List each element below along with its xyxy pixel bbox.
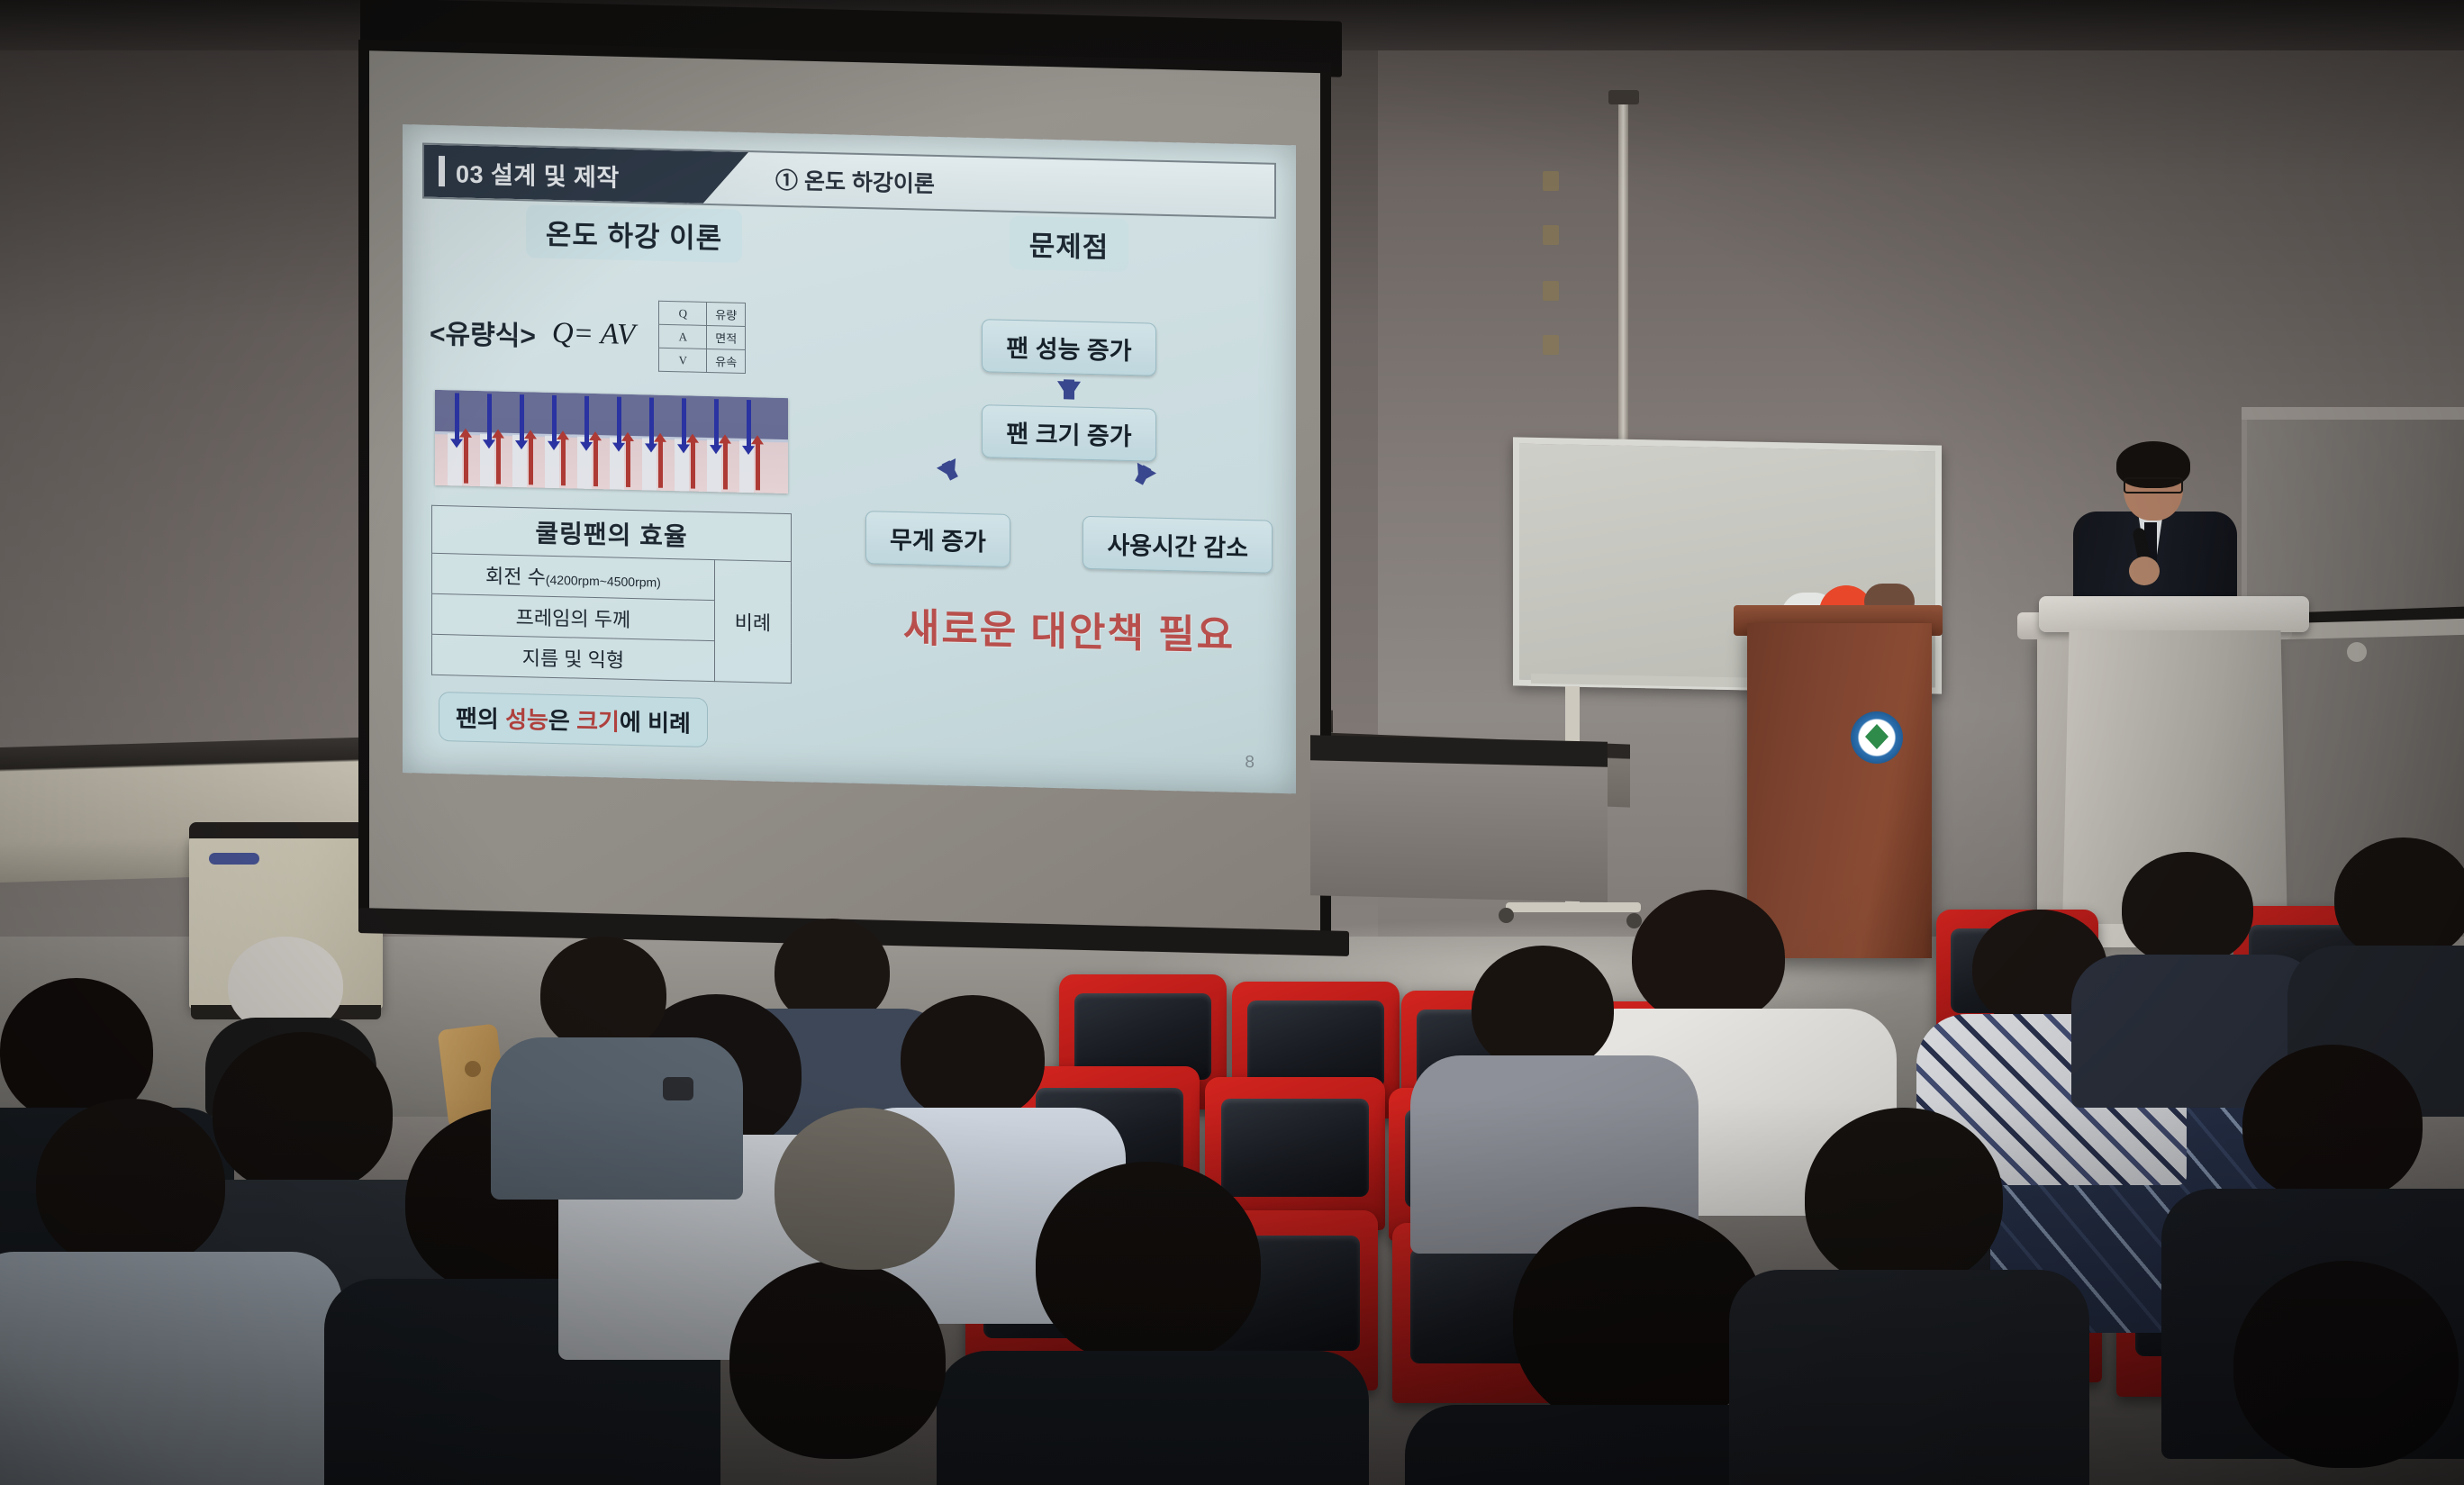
formula-label: <유량식> xyxy=(430,311,536,353)
tape-mark xyxy=(1543,281,1559,301)
flow-step-1-wrap: 팬 성능 증가 xyxy=(862,316,1276,379)
slide-right-column: 문제점 팬 성능 증가 팬 크기 증가 무게 증가 xyxy=(862,213,1276,781)
fan-efficiency-table: 쿨링팬의 효율 회전 수(4200rpm~4500rpm) 비례 프레임의 두께 xyxy=(431,505,792,684)
table-row: 쿨링팬의 효율 xyxy=(432,505,792,561)
shoulders xyxy=(491,1037,743,1200)
wall-rail-top-bracket xyxy=(1608,90,1639,104)
chair-hole xyxy=(465,1061,481,1077)
head xyxy=(901,995,1045,1121)
conclusion-part2: 은 xyxy=(548,707,576,735)
flow-formula-row: <유량식> Q= AV Q 유량 A 면적 xyxy=(422,295,846,376)
factor-note: (4200rpm~4500rpm) xyxy=(546,573,661,590)
left-column-title: 온도 하강 이론 xyxy=(526,204,742,263)
factor-label: 회전 수 xyxy=(485,565,546,589)
head xyxy=(729,1261,946,1459)
efficiency-relation: 비례 xyxy=(714,560,791,684)
variable-legend-table: Q 유량 A 면적 V 유속 xyxy=(658,301,746,374)
flow-branch-arrows xyxy=(862,455,1276,521)
wooden-podium xyxy=(1747,623,1932,958)
table-row: Q 유량 xyxy=(659,301,746,326)
conclusion-highlight-1: 성능 xyxy=(505,706,548,734)
head xyxy=(1805,1108,2003,1288)
left-title-wrap: 온도 하강 이론 xyxy=(422,203,846,266)
side-table-body xyxy=(1310,760,1608,901)
flow-step-2: 팬 크기 증가 xyxy=(982,404,1155,462)
head xyxy=(1632,890,1785,1025)
head xyxy=(775,1108,955,1270)
heat-sink-airflow-diagram xyxy=(435,390,788,493)
head xyxy=(213,1032,393,1194)
conclusion-part3: 에 비례 xyxy=(620,709,691,738)
slide-page-number: 8 xyxy=(1245,753,1255,773)
var-meaning: 유량 xyxy=(707,302,746,326)
head xyxy=(36,1099,225,1270)
shoulders xyxy=(937,1351,1369,1485)
university-emblem xyxy=(1851,711,1903,764)
flow-arrow-down-icon xyxy=(1057,381,1081,400)
flow-step-1: 팬 성능 증가 xyxy=(982,319,1155,376)
head xyxy=(2122,852,2253,965)
whiteboard-stand-foot xyxy=(1506,902,1641,912)
var-symbol: V xyxy=(659,348,707,372)
tape-mark xyxy=(1543,171,1559,191)
formula-expression: Q= AV xyxy=(552,317,635,352)
flow-arrow-diagonal-right-icon xyxy=(1129,463,1156,488)
efficiency-table-title: 쿨링팬의 효율 xyxy=(432,505,792,561)
wristwatch-icon xyxy=(663,1077,693,1100)
ac-brand-logo xyxy=(209,853,259,865)
head xyxy=(1036,1162,1261,1365)
slide-left-column: 온도 하강 이론 <유량식> Q= AV Q 유량 A 면적 xyxy=(422,203,846,771)
ac-top-panel xyxy=(189,822,383,838)
head xyxy=(2233,1261,2459,1468)
glasses-icon xyxy=(2124,477,2183,493)
efficiency-factor: 회전 수(4200rpm~4500rpm) xyxy=(432,553,715,600)
section-accent-bar xyxy=(439,156,445,186)
efficiency-factor: 프레임의 두께 xyxy=(432,593,715,640)
shoulders xyxy=(1729,1270,2089,1485)
tape-mark xyxy=(1543,335,1559,355)
head xyxy=(1513,1207,1765,1432)
caster-wheel xyxy=(1499,908,1514,923)
conclusion-part1: 팬의 xyxy=(456,704,505,732)
flow-branch-left: 무게 증가 xyxy=(865,511,1010,567)
flow-branch-row: 무게 증가 사용시간 감소 xyxy=(862,511,1276,574)
left-conclusion-box: 팬의 성능은 크기에 비례 xyxy=(439,692,708,747)
var-symbol: Q xyxy=(659,301,707,325)
var-meaning: 유속 xyxy=(707,349,746,373)
var-meaning: 면적 xyxy=(707,325,746,349)
flow-branch-right: 사용시간 감소 xyxy=(1083,516,1273,574)
head xyxy=(1472,946,1614,1072)
conclusion-highlight-2: 크기 xyxy=(576,708,620,736)
flow-step-2-wrap: 팬 크기 증가 xyxy=(862,402,1276,465)
shoulders xyxy=(0,1252,342,1485)
var-symbol: A xyxy=(659,324,707,349)
lectern-top xyxy=(2039,596,2309,632)
right-column-title: 문제점 xyxy=(1010,216,1129,272)
flow-arrow-diagonal-left-icon xyxy=(937,458,964,484)
slide-section-title: 03 설계 및 제작 xyxy=(456,154,620,193)
slide-body: 온도 하강 이론 <유량식> Q= AV Q 유량 A 면적 xyxy=(403,202,1296,781)
table-row: A 면적 xyxy=(659,324,746,349)
slide-callout: 새로운 대안책 필요 xyxy=(862,594,1276,662)
head xyxy=(2334,838,2464,960)
slide-section-tab: 03 설계 및 제작 xyxy=(424,145,748,204)
door-knob[interactable] xyxy=(2347,642,2367,662)
auditorium-photo: 03 설계 및 제작 ① 온도 하강이론 온도 하강 이론 <유량식> Q= A… xyxy=(0,0,2464,1485)
table-row: V 유속 xyxy=(659,348,746,373)
door-header xyxy=(2242,407,2464,420)
head xyxy=(540,937,666,1052)
tape-mark xyxy=(1543,225,1559,245)
right-title-wrap: 문제점 xyxy=(862,213,1276,276)
head xyxy=(2242,1045,2423,1203)
efficiency-factor: 지름 및 익형 xyxy=(432,634,715,681)
presenter-hand xyxy=(2129,557,2160,585)
projected-slide: 03 설계 및 제작 ① 온도 하강이론 온도 하강 이론 <유량식> Q= A… xyxy=(403,124,1296,793)
slide-subtitle: ① 온도 하강이론 xyxy=(775,163,935,199)
